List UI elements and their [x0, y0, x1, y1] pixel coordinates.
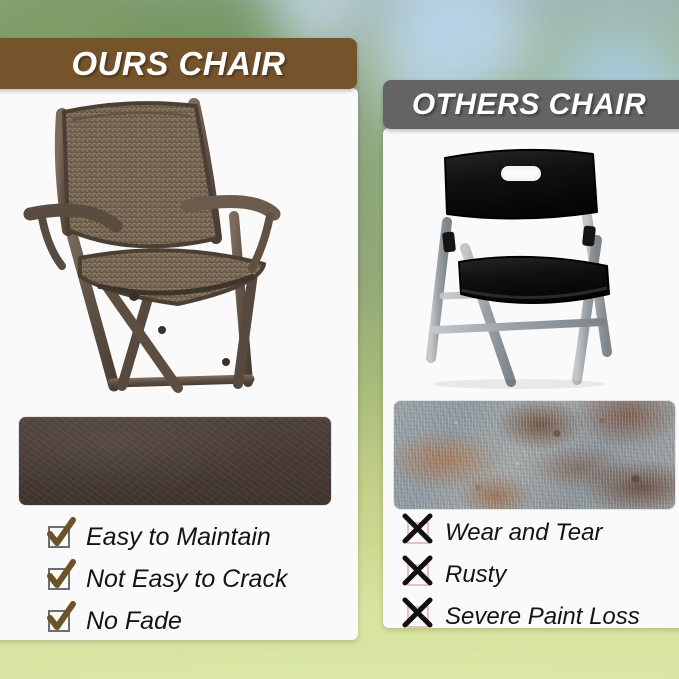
- check-icon: [48, 568, 70, 590]
- cross-icon: [407, 522, 429, 544]
- feature-label: Rusty: [445, 561, 506, 589]
- feature-item: No Fade: [48, 604, 287, 638]
- feature-label: Wear and Tear: [445, 519, 602, 547]
- ours-header-banner: OURS CHAIR: [0, 38, 357, 89]
- ours-header-label: OURS CHAIR: [59, 45, 285, 83]
- feature-label: Severe Paint Loss: [445, 603, 640, 631]
- feature-item: Severe Paint Loss: [407, 600, 640, 634]
- others-header-label: OTHERS CHAIR: [412, 88, 662, 122]
- ours-product-photo: [2, 98, 342, 398]
- cross-icon: [407, 606, 429, 628]
- feature-label: No Fade: [86, 607, 182, 636]
- sling-patio-chair-illustration: [2, 98, 342, 398]
- check-icon: [48, 526, 70, 548]
- others-feature-list: Wear and Tear Rusty Severe Paint Loss: [407, 516, 640, 642]
- feature-label: Not Easy to Crack: [86, 565, 287, 594]
- feature-item: Rusty: [407, 558, 640, 592]
- feature-item: Easy to Maintain: [48, 520, 287, 554]
- feature-item: Wear and Tear: [407, 516, 640, 550]
- others-panel: Wear and Tear Rusty Severe Paint Loss: [383, 128, 679, 628]
- others-product-photo: [401, 144, 671, 394]
- feature-label: Easy to Maintain: [86, 523, 271, 552]
- feature-item: Not Easy to Crack: [48, 562, 287, 596]
- cross-icon: [407, 564, 429, 586]
- ours-feature-list: Easy to Maintain Not Easy to Crack No Fa…: [48, 520, 287, 646]
- plastic-folding-chair-illustration: [401, 144, 671, 394]
- ours-panel: Easy to Maintain Not Easy to Crack No Fa…: [0, 88, 358, 640]
- others-rust-swatch: [393, 400, 676, 510]
- others-header-banner: OTHERS CHAIR: [383, 80, 679, 129]
- check-icon: [48, 610, 70, 632]
- ours-finish-swatch: [18, 416, 332, 506]
